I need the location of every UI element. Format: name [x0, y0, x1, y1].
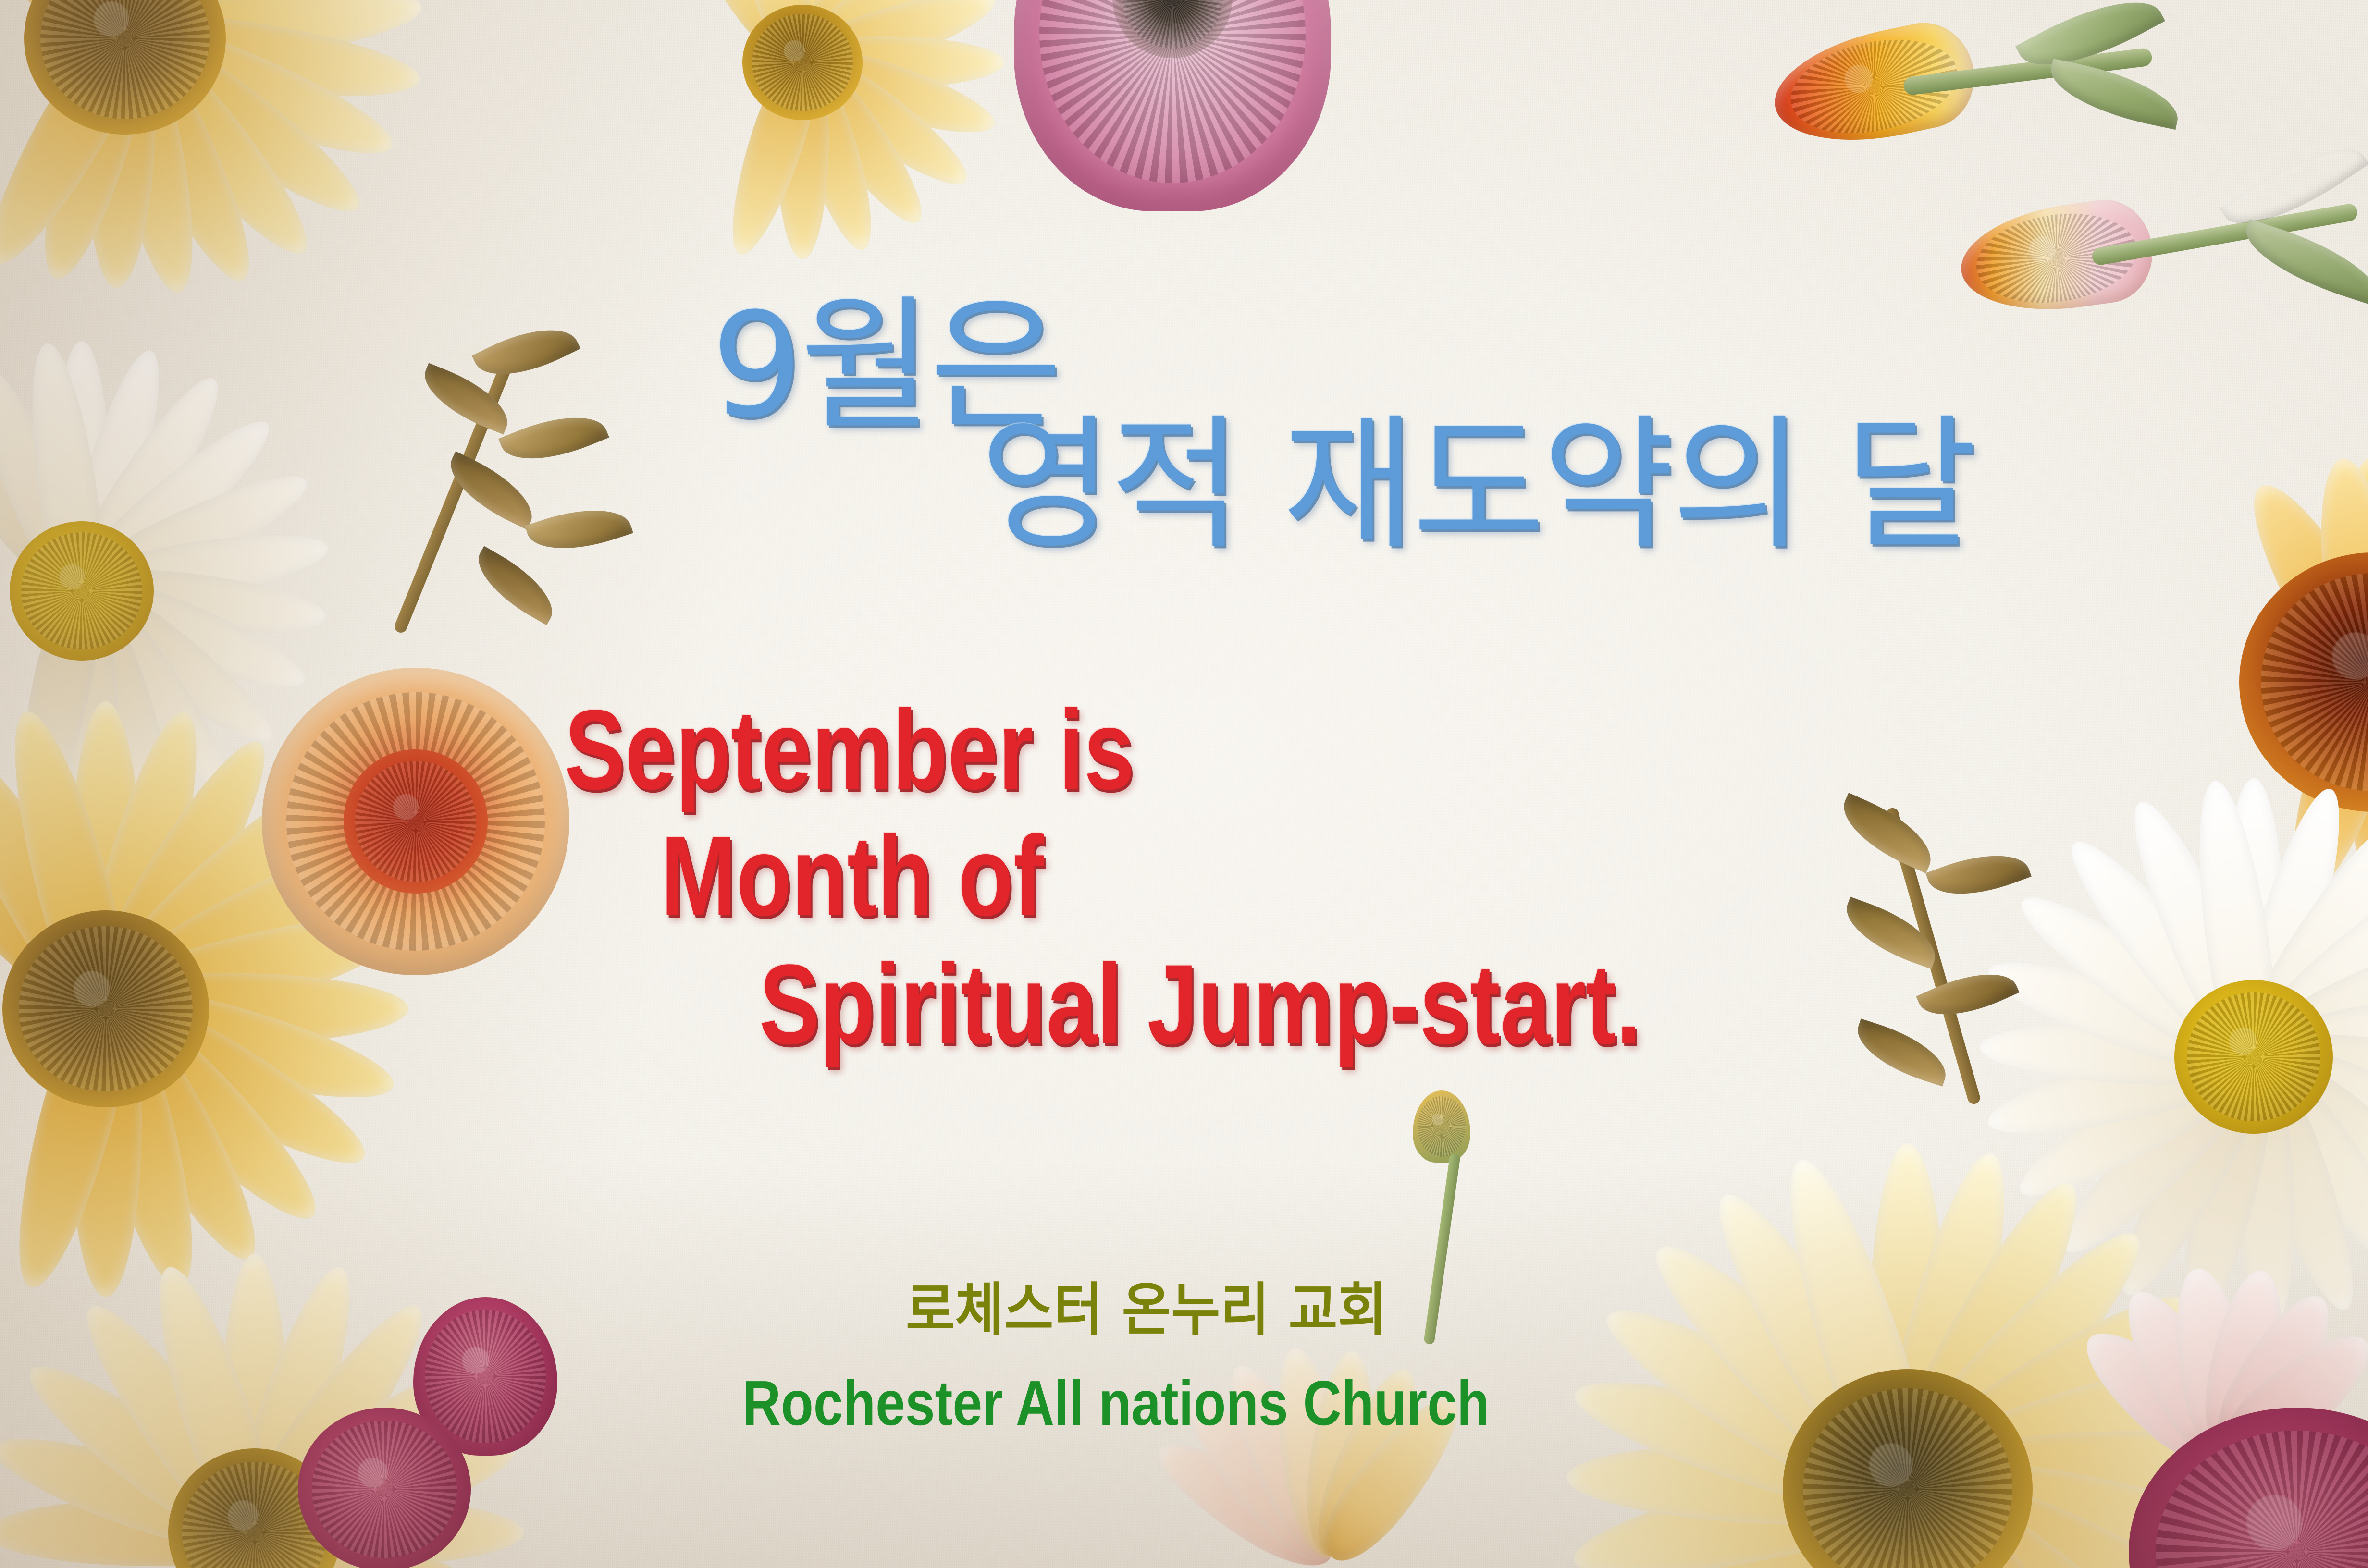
- leaf: [2236, 219, 2368, 306]
- leaf: [498, 400, 609, 476]
- flower-yellow-daisy-top-center: [557, 0, 1048, 307]
- stem: [1423, 1153, 1460, 1345]
- flower-peach-rose-left: [262, 668, 569, 975]
- flower-center-disc: [742, 5, 863, 120]
- poster-canvas: 9월은 영적 재도약의 달 September is Month of Spir…: [0, 0, 2368, 1568]
- bud-head: [1413, 1090, 1470, 1163]
- flower-pink-alstroemeria-top-right: [1932, 159, 2368, 428]
- leaf: [1925, 839, 2032, 910]
- flower-pink-protea-top-center: [1014, 0, 1331, 211]
- decor-green-bud-center-bottom: [1379, 1090, 1533, 1350]
- flower-center-disc: [2, 910, 209, 1107]
- bud-body: [298, 1408, 471, 1568]
- petal-group: [1048, 1340, 1615, 1568]
- leaf: [466, 546, 566, 625]
- dahlia-body: [2129, 1408, 2368, 1568]
- flower-magenta-bud-bottom-left-2: [298, 1408, 471, 1568]
- rose-inner: [344, 749, 488, 894]
- leaf: [525, 495, 633, 564]
- decor-dried-leaf-sprig-right: [1807, 783, 2105, 1148]
- flower-peach-gerbera-bottom-center: [1048, 1340, 1615, 1568]
- leaf: [472, 311, 580, 392]
- decor-dried-leaf-sprig-left: [365, 298, 711, 673]
- leaf: [1849, 1018, 1954, 1086]
- leaf: [1831, 793, 1943, 873]
- flower-magenta-dahlia-bottom-right: [2129, 1408, 2368, 1568]
